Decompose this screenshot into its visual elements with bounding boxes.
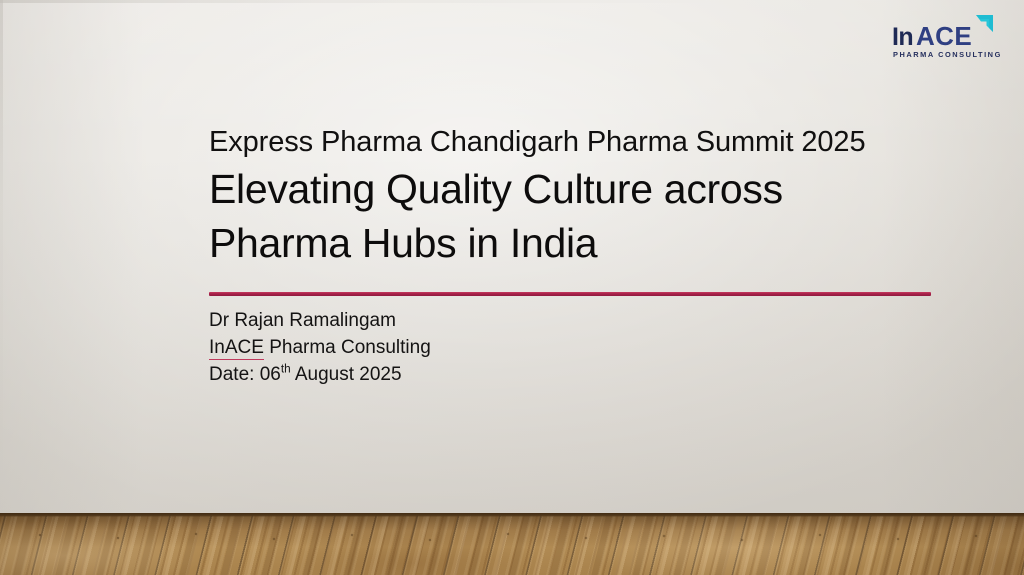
presentation-slide: In ACE PHARMA CONSULTING Express Pharma … (0, 0, 1024, 575)
logo-wordmark-ace: ACE (916, 21, 972, 51)
presenter-name: Dr Rajan Ramalingam (209, 308, 431, 335)
wall-top-edge (0, 0, 1024, 3)
date-rest: August 2025 (291, 364, 402, 385)
floor-grain (0, 513, 1024, 575)
wall-left-edge (0, 0, 3, 514)
inace-logo: In ACE PHARMA CONSULTING (890, 12, 1002, 62)
byline-block: Dr Rajan Ramalingam InACE Pharma Consult… (209, 308, 431, 389)
logo-wordmark-in: In (892, 23, 913, 51)
presentation-date: Date: 06th August 2025 (209, 362, 431, 389)
date-ordinal: th (281, 363, 291, 376)
wooden-floor (0, 513, 1024, 575)
presenter-company: InACE Pharma Consulting (209, 335, 431, 362)
event-name: Express Pharma Chandigarh Pharma Summit … (209, 126, 949, 160)
company-rest: Pharma Consulting (264, 337, 431, 358)
page-title: Elevating Quality Culture across Pharma … (209, 162, 869, 271)
logo-tagline: PHARMA CONSULTING (893, 50, 1002, 59)
title-block: Express Pharma Chandigarh Pharma Summit … (209, 126, 949, 271)
divider-rule (209, 292, 931, 296)
date-prefix: Date: 06 (209, 364, 281, 385)
company-highlight: InACE (209, 337, 264, 360)
floor-baseboard-edge (0, 513, 1024, 517)
logo-artwork: In ACE PHARMA CONSULTING (890, 12, 1002, 62)
